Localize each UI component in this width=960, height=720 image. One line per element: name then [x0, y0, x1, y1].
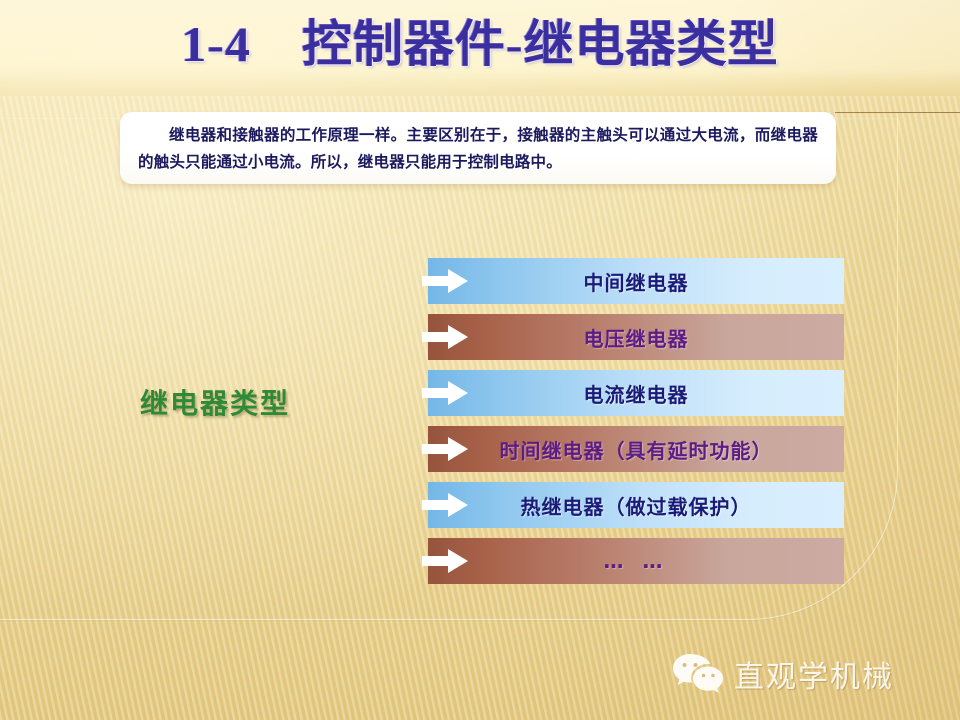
- list-item[interactable]: … …: [428, 538, 844, 584]
- arrow-icon: [422, 268, 468, 294]
- list-item[interactable]: 电压继电器: [428, 314, 844, 360]
- arrow-icon: [422, 380, 468, 406]
- arrow-icon: [422, 436, 468, 462]
- list-item-label: 电压继电器: [584, 323, 689, 352]
- intro-textbox: 继电器和接触器的工作原理一样。主要区别在于，接触器的主触头可以通过大电流，而继电…: [120, 112, 836, 184]
- list-item[interactable]: 时间继电器（具有延时功能）: [428, 426, 844, 472]
- intro-paragraph: 继电器和接触器的工作原理一样。主要区别在于，接触器的主触头可以通过大电流，而继电…: [138, 121, 818, 175]
- slide-title: 1-4 控制器件-继电器类型: [0, 8, 960, 80]
- arrow-icon: [422, 548, 468, 574]
- list-item[interactable]: 热继电器（做过载保护）: [428, 482, 844, 528]
- arrow-icon: [422, 324, 468, 350]
- list-item-label: 电流继电器: [584, 379, 689, 408]
- category-label: 继电器类型: [140, 382, 290, 422]
- watermark: 直观学机械: [672, 652, 894, 696]
- decorative-hairline: [835, 112, 960, 113]
- list-item[interactable]: 中间继电器: [428, 258, 844, 304]
- watermark-text: 直观学机械: [734, 652, 894, 696]
- list-item[interactable]: 电流继电器: [428, 370, 844, 416]
- list-item-label: 中间继电器: [584, 267, 689, 296]
- arrow-icon: [422, 492, 468, 518]
- relay-type-list: 中间继电器 电压继电器 电流继电器 时间继电器（具有延时功能） 热继电器（做过载: [428, 258, 844, 594]
- list-item-label: 时间继电器（具有延时功能）: [500, 435, 773, 464]
- slide-canvas: 1-4 控制器件-继电器类型 继电器和接触器的工作原理一样。主要区别在于，接触器…: [0, 0, 960, 720]
- list-item-label: 热继电器（做过载保护）: [521, 491, 752, 520]
- list-item-label: … …: [604, 549, 669, 573]
- wechat-icon: [672, 652, 724, 696]
